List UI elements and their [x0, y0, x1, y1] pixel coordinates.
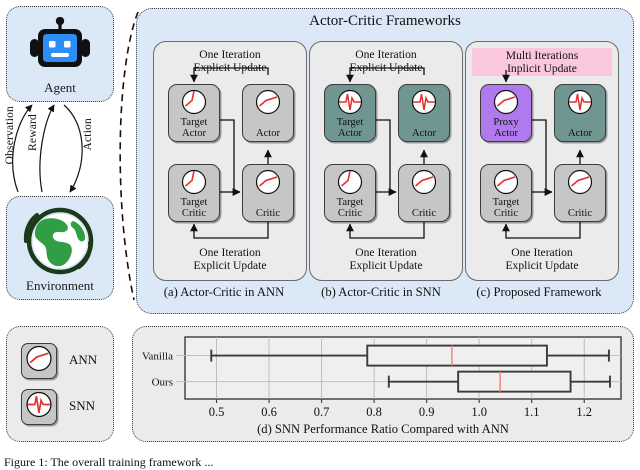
node-actor[interactable]: Actor [242, 84, 294, 142]
svg-text:1.0: 1.0 [471, 405, 487, 419]
svg-text:Ours: Ours [152, 377, 173, 389]
environment-panel: Environment [6, 196, 114, 300]
boxplot-caption: (d) SNN Performance Ratio Compared with … [133, 422, 633, 437]
node-critic[interactable]: Critic [242, 164, 294, 222]
ann-dial-icon [181, 89, 207, 120]
legend-panel: ANN SNN [6, 326, 114, 442]
node-label: Critic [239, 208, 297, 219]
agent-label: Agent [7, 80, 113, 96]
ann-dial-icon [255, 89, 281, 120]
svg-text:0.6: 0.6 [261, 405, 277, 419]
legend-item-ann: ANN [21, 343, 111, 381]
node-target-critic[interactable]: TargetCritic [168, 164, 220, 222]
node-label: Critic [551, 208, 609, 219]
ann-dial-icon [567, 169, 593, 200]
panel-b-foot-line2: Explicit Update [349, 259, 422, 272]
snn-dial-icon [411, 89, 437, 120]
panel-c-caption: (c) Proposed Framework [462, 285, 616, 300]
panel-a-foot: One Iteration Explicit Update [160, 246, 300, 272]
panel-c-foot-line2: Explicit Update [505, 259, 578, 272]
svg-text:0.5: 0.5 [209, 405, 225, 419]
environment-label: Environment [7, 278, 113, 294]
snn-dial-icon [337, 89, 363, 120]
snn-dial-icon [26, 391, 53, 423]
panel-b-foot: One Iteration Explicit Update [316, 246, 456, 272]
node-label: ProxyActor [477, 117, 535, 139]
boxplot-panel: VanillaOurs0.50.60.70.80.91.01.11.2 (d) … [132, 326, 634, 442]
svg-text:Vanilla: Vanilla [142, 351, 173, 363]
panel-proposed-framework: Multi Iterations Inplicit Update ProxyAc… [465, 41, 619, 281]
panel-actor-critic-ann: One Iteration Explicit Update [153, 41, 307, 281]
node-label: Actor [551, 128, 609, 139]
node-label: TargetActor [165, 117, 223, 139]
ann-dial-icon [411, 169, 437, 200]
panel-actor-critic-snn: One Iteration Explicit Update TargetActo… [309, 41, 463, 281]
legend-item-snn: SNN [21, 389, 111, 427]
node-target-critic[interactable]: TargetCritic [324, 164, 376, 222]
reward-label: Reward [27, 114, 39, 151]
svg-text:1.1: 1.1 [524, 405, 540, 419]
node-label: TargetCritic [321, 197, 379, 219]
panel-a-foot-line2: Explicit Update [193, 259, 266, 272]
agent-environment-loop: Observation Reward Action [2, 100, 118, 198]
legend-label-snn: SNN [69, 398, 95, 414]
snn-dial-icon [567, 89, 593, 120]
node-proxy-actor[interactable]: ProxyActor [480, 84, 532, 142]
ann-dial-icon [493, 169, 519, 200]
legend-label-ann: ANN [69, 352, 97, 368]
node-target-actor[interactable]: TargetActor [324, 84, 376, 142]
node-actor[interactable]: Actor [554, 84, 606, 142]
ann-dial-icon [493, 89, 519, 120]
node-label: TargetCritic [165, 197, 223, 219]
robot-icon [27, 17, 93, 84]
node-actor[interactable]: Actor [398, 84, 450, 142]
node-critic[interactable]: Critic [398, 164, 450, 222]
node-label: TargetActor [321, 117, 379, 139]
panel-b-foot-line1: One Iteration [355, 246, 416, 259]
svg-text:0.9: 0.9 [419, 405, 435, 419]
figure-root: Agent Observation Reward Action [0, 0, 640, 467]
frameworks-panel: Actor-Critic Frameworks One Iteration Ex… [136, 8, 634, 314]
node-label: Critic [395, 208, 453, 219]
ann-chip [21, 343, 57, 379]
snn-chip [21, 389, 57, 425]
globe-icon [23, 205, 97, 282]
node-label: Actor [239, 128, 297, 139]
panel-b-caption: (b) Actor-Critic in SNN [304, 285, 458, 300]
figure-caption: Figure 1: The overall training framework… [4, 455, 636, 470]
ann-dial-icon [26, 345, 53, 377]
ann-dial-icon [181, 169, 207, 200]
panel-a-foot-line1: One Iteration [199, 246, 260, 259]
node-target-actor[interactable]: TargetActor [168, 84, 220, 142]
node-target-critic[interactable]: TargetCritic [480, 164, 532, 222]
agent-panel: Agent [6, 6, 114, 102]
observation-label: Observation [4, 106, 16, 164]
svg-text:0.7: 0.7 [314, 405, 330, 419]
panel-c-foot-line1: One Iteration [511, 246, 572, 259]
panel-a-caption: (a) Actor-Critic in ANN [147, 285, 301, 300]
action-label: Action [82, 118, 94, 151]
node-label: TargetCritic [477, 197, 535, 219]
ann-dial-icon [255, 169, 281, 200]
svg-text:1.2: 1.2 [576, 405, 592, 419]
ann-dial-icon [337, 169, 363, 200]
svg-text:0.8: 0.8 [366, 405, 382, 419]
node-label: Actor [395, 128, 453, 139]
node-critic[interactable]: Critic [554, 164, 606, 222]
panel-c-foot: One Iteration Explicit Update [472, 246, 612, 272]
frameworks-title: Actor-Critic Frameworks [137, 13, 633, 30]
